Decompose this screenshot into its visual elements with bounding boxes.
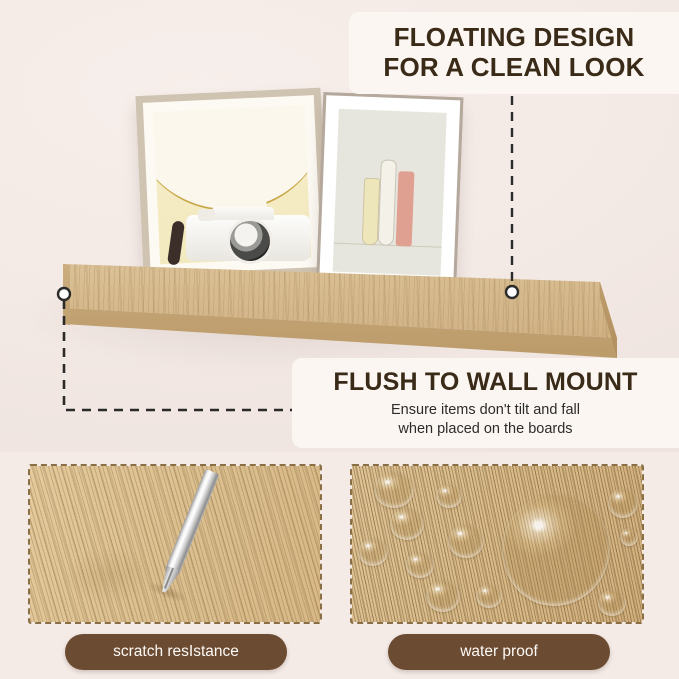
feature-image-scratch-resistance	[28, 464, 322, 624]
water-droplet	[426, 580, 460, 612]
subline-flush-mount-line1: Ensure items don't tilt and fall	[391, 401, 580, 420]
artwork-vase-white	[378, 159, 397, 246]
feature-label-text: scratch resIstance	[113, 643, 239, 661]
callout-panel-floating-design: FLOATING DESIGN FOR A CLEAN LOOK	[349, 12, 679, 94]
feature-label-scratch-resistance[interactable]: scratch resIstance	[65, 634, 287, 670]
water-droplet	[374, 472, 414, 508]
water-droplet	[358, 538, 388, 566]
water-droplet	[598, 590, 626, 616]
feature-label-water-proof[interactable]: water proof	[388, 634, 610, 670]
callout-panel-flush-mount: FLUSH TO WALL MOUNT Ensure items don't t…	[292, 358, 679, 448]
feature-cards: scratch resIstance water proof	[0, 452, 679, 679]
camera-top-plate	[212, 207, 274, 220]
product-feature-image: FLOATING DESIGN FOR A CLEAN LOOK FLUSH T…	[0, 0, 679, 679]
water-droplet	[448, 524, 484, 558]
floating-shelf	[0, 246, 679, 366]
feature-image-water-proof	[350, 464, 644, 624]
headline-floating-design-line1: FLOATING DESIGN	[394, 23, 635, 53]
water-droplet	[476, 584, 502, 608]
camera-dial	[198, 209, 215, 221]
artwork-vase-terracotta	[395, 171, 414, 247]
subline-flush-mount-line2: when placed on the boards	[398, 420, 572, 439]
headline-floating-design-line2: FOR A CLEAN LOOK	[383, 53, 644, 83]
water-droplet	[436, 484, 462, 508]
feature-card-scratch-resistance	[28, 464, 322, 624]
water-droplet	[406, 552, 434, 578]
headline-flush-mount: FLUSH TO WALL MOUNT	[333, 368, 637, 397]
water-droplet	[608, 488, 638, 518]
feature-card-water-proof	[350, 464, 644, 624]
water-droplet	[390, 508, 424, 540]
water-droplet	[620, 528, 638, 546]
feature-label-text: water proof	[460, 643, 538, 661]
